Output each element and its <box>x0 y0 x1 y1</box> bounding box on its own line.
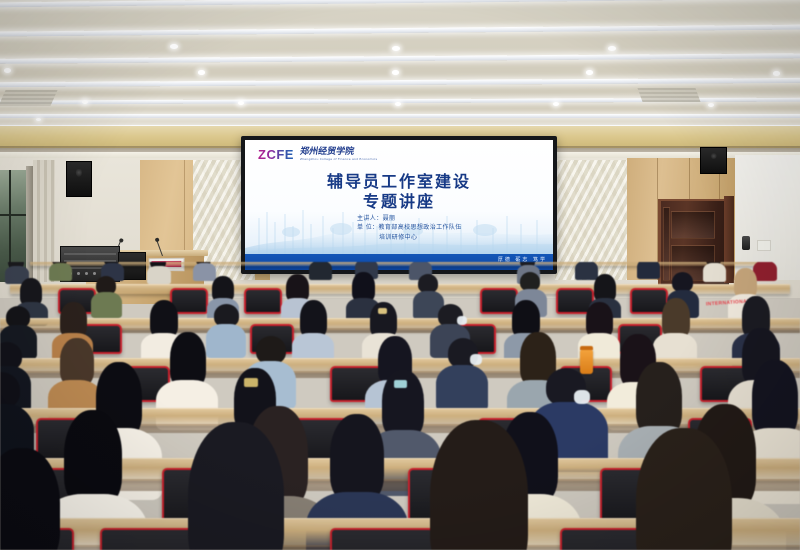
ceiling-downlight <box>82 100 88 104</box>
ceiling-downlight <box>773 71 780 76</box>
ceiling <box>0 0 800 132</box>
ceiling-downlight <box>392 46 400 51</box>
face-mask <box>574 390 590 404</box>
wall-speaker-right <box>700 147 727 174</box>
slide-logo: ZCFE 郑州经贸学院 Zhengzhou College of Finance… <box>258 148 377 161</box>
door-card-reader-icon[interactable] <box>742 236 750 250</box>
institution-name-en: Zhengzhou College of Finance and Economi… <box>300 158 377 161</box>
ceiling-downlight <box>553 102 559 106</box>
ceiling-vent <box>0 90 58 106</box>
lecture-hall-photo: ZCFE 郑州经贸学院 Zhengzhou College of Finance… <box>0 0 800 550</box>
ceiling-light-strip <box>0 24 800 37</box>
institution-name-cn: 郑州经贸学院 <box>299 148 378 157</box>
wall-speaker-left <box>66 161 92 197</box>
ceiling-downlight <box>4 68 11 73</box>
slide-speaker: 主讲人：聂丽 <box>357 214 553 223</box>
institution-name-block: 郑州经贸学院 Zhengzhou College of Finance and … <box>300 148 377 161</box>
zcfe-logo-text: ZCFE <box>258 148 294 161</box>
hair-clip <box>244 378 258 387</box>
ceiling-downlight <box>392 70 399 75</box>
projection-screen: ZCFE 郑州经贸学院 Zhengzhou College of Finance… <box>241 136 557 274</box>
wall-switch-plate[interactable] <box>757 240 771 251</box>
ceiling-downlight <box>198 70 205 75</box>
face-mask <box>470 354 482 365</box>
presentation-slide: ZCFE 郑州经贸学院 Zhengzhou College of Finance… <box>245 140 553 270</box>
water-bottle <box>580 350 593 374</box>
slide-title-line-2: 专题讲座 <box>245 192 553 212</box>
ceiling-downlight <box>608 46 616 51</box>
hair-clip <box>394 380 407 388</box>
face-mask <box>457 316 467 325</box>
seat-chair <box>330 528 434 550</box>
slide-metadata: 主讲人：聂丽 单 位：教育部高校思想政治工作队伍 培训研修中心 <box>245 214 553 242</box>
hair-clip <box>378 308 387 314</box>
ceiling-downlight <box>238 101 244 105</box>
ceiling-downlight <box>708 103 714 107</box>
ceiling-downlight <box>395 102 401 106</box>
slide-organization: 单 位：教育部高校思想政治工作队伍 <box>357 223 553 232</box>
ceiling-vent <box>637 88 700 102</box>
seat-chair <box>244 288 282 314</box>
ceiling-downlight <box>586 70 593 75</box>
ceiling-light-strip <box>0 78 800 87</box>
ceiling-light-strip <box>0 53 800 64</box>
slide-title-line-1: 辅导员工作室建设 <box>245 172 553 192</box>
ceiling-downlight <box>36 118 41 121</box>
slide-title: 辅导员工作室建设 专题讲座 <box>245 172 553 213</box>
ceiling-light-strip <box>0 114 800 118</box>
audience-seating: INTERNATIONAL <box>0 262 800 550</box>
ceiling-light-strip <box>0 0 800 8</box>
slide-organization-cont: 培训研修中心 <box>357 233 553 242</box>
ceiling-downlight <box>170 44 178 49</box>
